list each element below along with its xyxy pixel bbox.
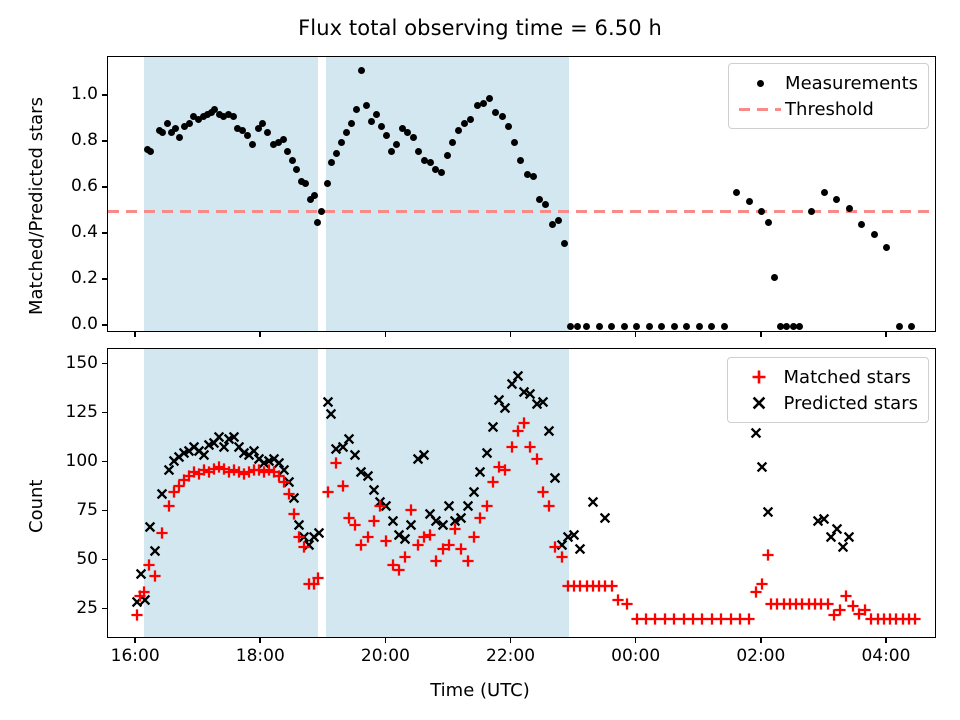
- matched-star-point: [618, 600, 619, 601]
- measurement-point: [348, 120, 355, 127]
- matched-star-point: [915, 619, 916, 620]
- matched-star-point: [543, 492, 544, 493]
- x-tick-label: 18:00: [210, 646, 310, 666]
- legend-counts[interactable]: Matched stars Predicted stars: [727, 357, 929, 423]
- y-top-tick-label: 0.2: [71, 268, 98, 288]
- matched-star-point: [318, 578, 319, 579]
- predicted-star-point: [234, 437, 235, 438]
- matched-star-point: [162, 533, 163, 534]
- matched-star-point: [731, 619, 732, 620]
- measurement-point: [771, 274, 778, 281]
- predicted-star-point: [319, 533, 320, 534]
- predicted-star-point: [405, 539, 406, 540]
- x-tick-top: [635, 331, 637, 337]
- measurement-point: [172, 125, 179, 132]
- matched-star-point: [693, 619, 694, 620]
- measurement-point: [444, 152, 451, 159]
- measurement-point: [808, 208, 815, 215]
- matched-star-point: [328, 492, 329, 493]
- legend-item-measurements[interactable]: Measurements: [737, 70, 918, 96]
- predicted-star-point: [331, 414, 332, 415]
- matched-star-point: [418, 545, 419, 546]
- matched-star-point: [411, 510, 412, 511]
- y-bottom-tick: [102, 608, 108, 610]
- measurement-point: [378, 123, 385, 130]
- x-tick-bottom: [385, 637, 387, 643]
- predicted-star-point: [530, 394, 531, 395]
- matched-star-point: [487, 506, 488, 507]
- y-bottom-tick-label: 150: [66, 353, 98, 373]
- x-tick-bottom: [510, 637, 512, 643]
- plus-icon: [750, 368, 768, 386]
- measurement-point: [449, 139, 456, 146]
- matched-star-point: [169, 506, 170, 507]
- measurement-point: [427, 159, 434, 166]
- measurement-point: [671, 323, 678, 330]
- x-tick-label: 22:00: [461, 646, 561, 666]
- x-tick-label: 20:00: [335, 646, 435, 666]
- x-tick-top: [259, 331, 261, 337]
- predicted-star-point: [374, 490, 375, 491]
- measurement-point: [338, 139, 345, 146]
- matched-star-point: [155, 576, 156, 577]
- measurement-point: [833, 196, 840, 203]
- measurement-point: [455, 127, 462, 134]
- matched-star-point: [562, 557, 563, 558]
- legend-item-threshold[interactable]: Threshold: [737, 96, 918, 122]
- y-bottom-tick: [102, 412, 108, 414]
- x-axis-label: Time (UTC): [0, 680, 960, 701]
- measurement-point: [511, 139, 518, 146]
- measurement-point: [596, 323, 603, 330]
- matched-star-point: [762, 584, 763, 585]
- predicted-star-point: [150, 527, 151, 528]
- predicted-star-point: [299, 525, 300, 526]
- measurement-point: [186, 120, 193, 127]
- predicted-star-point: [549, 431, 550, 432]
- matched-star-point: [684, 619, 685, 620]
- predicted-star-point: [328, 402, 329, 403]
- matched-star-point: [721, 619, 722, 620]
- matched-star-point: [702, 619, 703, 620]
- measurement-point: [388, 148, 395, 155]
- predicted-star-point: [831, 537, 832, 538]
- predicted-star-point: [343, 447, 344, 448]
- measurement-point: [746, 198, 753, 205]
- y-bottom-tick-label: 50: [76, 549, 98, 569]
- measurement-point: [249, 141, 256, 148]
- predicted-star-point: [837, 529, 838, 530]
- x-tick-label: 16:00: [85, 646, 185, 666]
- measurement-point: [314, 219, 321, 226]
- measurement-point: [633, 323, 640, 330]
- predicted-star-point: [219, 437, 220, 438]
- predicted-star-point: [756, 433, 757, 434]
- x-tick-bottom: [259, 637, 261, 643]
- measurement-point: [574, 323, 581, 330]
- predicted-star-point: [580, 549, 581, 550]
- matched-star-point: [380, 506, 381, 507]
- measurement-point: [683, 323, 690, 330]
- matched-star-point: [740, 619, 741, 620]
- x-tick-label: 02:00: [711, 646, 811, 666]
- matched-star-point: [612, 586, 613, 587]
- measurement-point: [608, 323, 615, 330]
- measurement-point: [821, 189, 828, 196]
- matched-star-point: [355, 525, 356, 526]
- predicted-star-point: [355, 455, 356, 456]
- matched-star-point: [455, 529, 456, 530]
- measurements-dot-icon: [737, 73, 783, 93]
- x-tick-label: 00:00: [586, 646, 686, 666]
- y-top-tick: [102, 278, 108, 280]
- measurement-point: [555, 217, 562, 224]
- x-tick-top: [385, 331, 387, 337]
- x-tick-label: 04:00: [836, 646, 936, 666]
- y-top-tick-label: 1.0: [71, 84, 98, 104]
- predicted-star-point: [605, 518, 606, 519]
- matched-star-point: [665, 619, 666, 620]
- predicted-star-point: [593, 502, 594, 503]
- matched-star-point: [144, 592, 145, 593]
- predicted-star-point: [480, 472, 481, 473]
- measurement-point: [438, 169, 445, 176]
- matched-star-point: [430, 535, 431, 536]
- matched-star-point: [304, 547, 305, 548]
- measurement-point: [530, 173, 537, 180]
- y-top-tick-label: 0.0: [71, 314, 98, 334]
- predicted-star-point: [824, 519, 825, 520]
- matched-star-point: [505, 470, 506, 471]
- matched-star-point: [361, 545, 362, 546]
- shaded-span-2: [326, 57, 569, 331]
- measurement-point: [708, 323, 715, 330]
- matched-star-point: [294, 514, 295, 515]
- threshold-dashed-line-icon: [737, 99, 783, 119]
- measurement-point: [284, 148, 291, 155]
- matched-plus-icon: [736, 367, 782, 387]
- y-bottom-tick: [102, 363, 108, 365]
- x-tick-bottom: [885, 637, 887, 643]
- measurement-point: [505, 123, 512, 130]
- legend-label-threshold: Threshold: [783, 99, 874, 120]
- matched-star-point: [537, 459, 538, 460]
- measurement-point: [410, 134, 417, 141]
- matched-star-point: [637, 619, 638, 620]
- predicted-star-point: [424, 455, 425, 456]
- matched-star-point: [480, 518, 481, 519]
- measurement-point: [230, 113, 237, 120]
- matched-star-point: [343, 486, 344, 487]
- x-tick-top: [885, 331, 887, 337]
- measurement-point: [696, 323, 703, 330]
- predicted-star-point: [162, 494, 163, 495]
- measurement-point: [896, 323, 903, 330]
- predicted-star-point: [443, 525, 444, 526]
- predicted-star-point: [487, 453, 488, 454]
- y-bottom-tick: [102, 559, 108, 561]
- figure-canvas: Flux total observing time = 6.50 h Measu…: [0, 0, 960, 720]
- measurement-point: [289, 157, 296, 164]
- predicted-star-point: [349, 439, 350, 440]
- predicted-star-point: [505, 408, 506, 409]
- predicted-star-point: [141, 574, 142, 575]
- predicted-star-point: [368, 476, 369, 477]
- measurement-point: [765, 219, 772, 226]
- x-tick-top: [134, 331, 136, 337]
- matched-star-point: [461, 549, 462, 550]
- cross-icon: [750, 394, 768, 412]
- measurement-point: [486, 95, 493, 102]
- y-top-tick: [102, 140, 108, 142]
- x-tick-top: [510, 331, 512, 337]
- matched-star-point: [846, 596, 847, 597]
- measurement-point: [733, 189, 740, 196]
- measurement-point: [646, 323, 653, 330]
- matched-star-point: [768, 555, 769, 556]
- y-bottom-tick-label: 75: [76, 500, 98, 520]
- matched-star-point: [284, 482, 285, 483]
- matched-star-point: [627, 604, 628, 605]
- measurement-point: [333, 150, 340, 157]
- measurement-point: [244, 132, 251, 139]
- matched-star-point: [493, 482, 494, 483]
- y-top-tick-label: 0.6: [71, 176, 98, 196]
- matched-star-point: [468, 561, 469, 562]
- matched-star-point: [828, 604, 829, 605]
- measurement-point: [467, 116, 474, 123]
- legend-label-measurements: Measurements: [783, 73, 918, 94]
- matched-star-point: [289, 494, 290, 495]
- measurement-point: [858, 221, 865, 228]
- matched-star-point: [555, 547, 556, 548]
- matched-star-point: [840, 610, 841, 611]
- matched-star-point: [865, 610, 866, 611]
- measurement-point: [280, 136, 287, 143]
- y-axis-label-top: Matched/Predicted stars: [26, 97, 47, 315]
- y-top-tick: [102, 324, 108, 326]
- chart-title: Flux total observing time = 6.50 h: [0, 16, 960, 40]
- shaded-span-1: [144, 57, 319, 331]
- measurement-point: [871, 231, 878, 238]
- predicted-star-point: [555, 478, 556, 479]
- matched-star-point: [549, 506, 550, 507]
- matched-star-point: [137, 615, 138, 616]
- matched-star-point: [374, 521, 375, 522]
- matched-star-point: [336, 463, 337, 464]
- y-top-tick-label: 0.4: [71, 222, 98, 242]
- measurement-point: [383, 132, 390, 139]
- x-tick-bottom: [760, 637, 762, 643]
- predicted-star-point: [512, 384, 513, 385]
- y-bottom-tick-label: 100: [66, 451, 98, 471]
- matched-star-point: [524, 423, 525, 424]
- legend-label-predicted-stars: Predicted stars: [782, 393, 918, 414]
- measurement-point: [311, 192, 318, 199]
- predicted-star-point: [518, 376, 519, 377]
- predicted-star-point: [169, 470, 170, 471]
- matched-star-point: [512, 447, 513, 448]
- x-tick-top: [760, 331, 762, 337]
- y-top-tick-label: 0.8: [71, 130, 98, 150]
- matched-star-point: [756, 592, 757, 593]
- matched-star-point: [518, 431, 519, 432]
- predicted-star-point: [768, 512, 769, 513]
- matched-star-point: [436, 561, 437, 562]
- predicted-star-point: [468, 506, 469, 507]
- matched-star-point: [386, 541, 387, 542]
- matched-star-point: [674, 619, 675, 620]
- y-top-tick: [102, 232, 108, 234]
- predicted-star-point: [843, 547, 844, 548]
- measurement-point: [721, 323, 728, 330]
- predicted-star-point: [204, 455, 205, 456]
- predicted-star-point: [155, 551, 156, 552]
- predicted-star-point: [574, 535, 575, 536]
- measurement-point: [883, 244, 890, 251]
- y-top-tick: [102, 186, 108, 188]
- predicted-star-point: [849, 537, 850, 538]
- y-bottom-tick-label: 25: [76, 598, 98, 618]
- legend-item-predicted-stars[interactable]: Predicted stars: [736, 390, 918, 416]
- measurement-point: [499, 113, 506, 120]
- measurement-point: [621, 323, 628, 330]
- y-bottom-tick-label: 125: [66, 402, 98, 422]
- predicted-star-point: [411, 525, 412, 526]
- measurement-point: [908, 323, 915, 330]
- predicted-star-point: [493, 427, 494, 428]
- measurement-point: [318, 208, 325, 215]
- x-tick-bottom: [635, 637, 637, 643]
- measurement-point: [796, 323, 803, 330]
- predicted-star-point: [449, 506, 450, 507]
- y-bottom-tick: [102, 510, 108, 512]
- matched-star-point: [749, 619, 750, 620]
- matched-star-point: [405, 557, 406, 558]
- legend-item-matched-stars[interactable]: Matched stars: [736, 364, 918, 390]
- y-top-tick: [102, 94, 108, 96]
- matched-star-point: [655, 619, 656, 620]
- matched-star-point: [712, 619, 713, 620]
- measurement-point: [363, 102, 370, 109]
- matched-star-point: [530, 447, 531, 448]
- predicted-star-point: [474, 492, 475, 493]
- matched-star-point: [368, 537, 369, 538]
- matched-star-point: [149, 565, 150, 566]
- predicted-star-point: [543, 402, 544, 403]
- matched-star-point: [399, 570, 400, 571]
- predicted-cross-icon: [736, 393, 782, 413]
- measurement-point: [758, 208, 765, 215]
- bottom-panel-counts: Matched stars Predicted stars: [107, 348, 936, 638]
- matched-star-point: [474, 537, 475, 538]
- measurement-point: [373, 111, 380, 118]
- matched-star-point: [646, 619, 647, 620]
- legend-measurements[interactable]: Measurements Threshold: [728, 63, 929, 129]
- measurement-point: [658, 323, 665, 330]
- predicted-star-point: [393, 521, 394, 522]
- y-axis-label-bottom: Count: [26, 480, 47, 533]
- y-bottom-tick: [102, 461, 108, 463]
- matched-star-point: [449, 545, 450, 546]
- predicted-star-point: [762, 467, 763, 468]
- predicted-star-point: [461, 518, 462, 519]
- measurement-point: [583, 323, 590, 330]
- measurement-point: [561, 240, 568, 247]
- x-tick-bottom: [134, 637, 136, 643]
- predicted-star-point: [224, 447, 225, 448]
- top-panel-ratio: Measurements Threshold: [107, 56, 936, 332]
- measurement-point: [368, 118, 375, 125]
- matched-star-point: [299, 537, 300, 538]
- measurement-point: [147, 148, 154, 155]
- measurement-point: [393, 141, 400, 148]
- legend-label-matched-stars: Matched stars: [782, 367, 911, 388]
